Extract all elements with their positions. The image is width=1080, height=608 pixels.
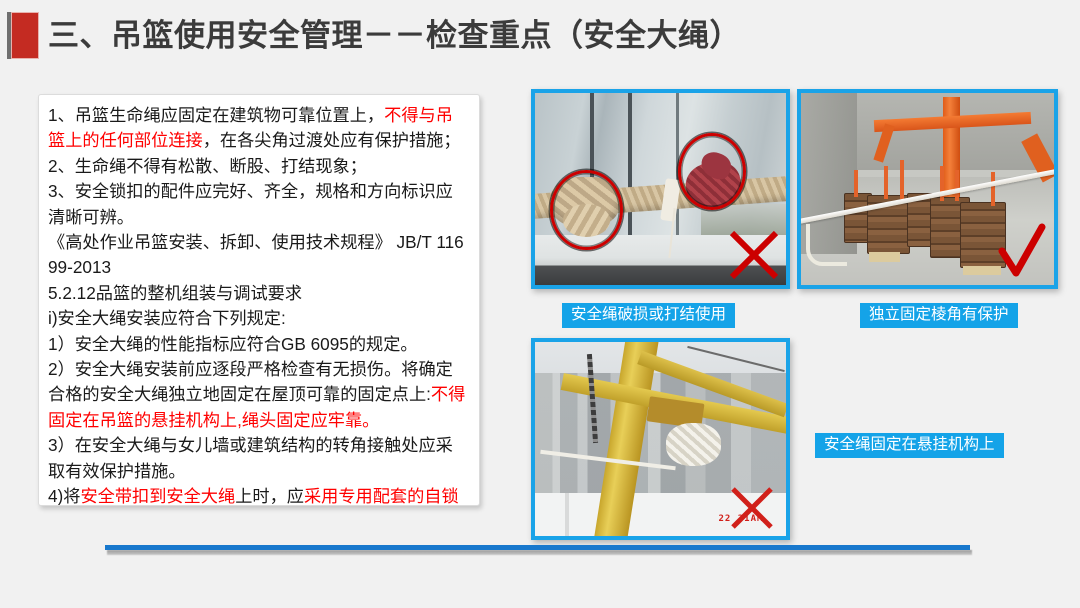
content-run: 3、安全锁扣的配件应完好、齐全，规格和方向标识应清晰可辨。	[48, 181, 453, 226]
content-run: 《高处作业吊篮安装、拆卸、使用技术规程》 JB/T 11699-2013	[48, 232, 464, 277]
red-ellipse-damage-annotation	[678, 133, 746, 210]
content-run: 安全带扣到安全大绳	[80, 486, 235, 506]
photo-caption-damaged-rope: 安全绳破损或打结使用	[562, 303, 735, 328]
red-ellipse-knot-annotation	[550, 170, 623, 251]
content-run: 4)将	[48, 486, 80, 506]
photo-timestamp: 22 21AM	[718, 514, 763, 524]
page-title: 三、吊篮使用安全管理－－检查重点（安全大绳）	[48, 12, 741, 60]
content-paragraph: 1、吊篮生命绳应固定在建筑物可靠位置上，不得与吊篮上的任何部位连接，在各尖角过渡…	[48, 103, 470, 154]
content-paragraph: 5.2.12品篮的整机组装与调试要求	[48, 281, 470, 306]
content-paragraph: i)安全大绳安装应符合下列规定:	[48, 306, 470, 331]
content-run: 5.2.12品篮的整机组装与调试要求	[48, 283, 302, 303]
content-run: 1、吊篮生命绳应固定在建筑物可靠位置上，	[48, 105, 384, 125]
content-run: 上时，应	[235, 486, 304, 506]
content-paragraph: 2）安全大绳安装前应逐段严格检查有无损伤。将确定合格的安全大绳独立地固定在屋顶可…	[48, 357, 470, 433]
photo-independent-anchor	[797, 89, 1058, 289]
photo-caption-rope-on-suspension: 安全绳固定在悬挂机构上	[815, 433, 1004, 458]
content-paragraph: 4)将安全带扣到安全大绳上时，应采用专用配套的自锁器或具有相同功能的单向自锁卡扣…	[48, 484, 470, 506]
content-text-panel: 1、吊篮生命绳应固定在建筑物可靠位置上，不得与吊篮上的任何部位连接，在各尖角过渡…	[38, 94, 480, 506]
content-paragraph: 2、生命绳不得有松散、断股、打结现象；	[48, 154, 470, 179]
photo-damaged-rope	[531, 89, 790, 289]
content-run: 3）在安全大绳与女儿墙或建筑结构的转角接触处应采取有效保护措施。	[48, 435, 453, 480]
slide-canvas: 三、吊篮使用安全管理－－检查重点（安全大绳） 1、吊篮生命绳应固定在建筑物可靠位…	[0, 0, 1080, 608]
bottom-rule-shadow	[107, 550, 972, 555]
photo-rope-on-suspension: 22 21AM	[531, 338, 790, 540]
content-body-text: 1、吊篮生命绳应固定在建筑物可靠位置上，不得与吊篮上的任何部位连接，在各尖角过渡…	[48, 103, 470, 506]
bottom-rule	[105, 545, 970, 550]
content-run: 2、生命绳不得有松散、断股、打结现象；	[48, 156, 367, 176]
content-paragraph: 《高处作业吊篮安装、拆卸、使用技术规程》 JB/T 11699-2013	[48, 230, 470, 281]
content-paragraph: 1）安全大绳的性能指标应符合GB 6095的规定。	[48, 332, 470, 357]
title-accent-block	[11, 12, 39, 59]
content-run: ，在各尖角过渡处应有保护措施；	[203, 130, 461, 150]
content-run: 1）安全大绳的性能指标应符合GB 6095的规定。	[48, 334, 418, 354]
content-run: i)安全大绳安装应符合下列规定:	[48, 308, 286, 328]
content-paragraph: 3、安全锁扣的配件应完好、齐全，规格和方向标识应清晰可辨。	[48, 179, 470, 230]
content-run: 2）安全大绳安装前应逐段严格检查有无损伤。将确定合格的安全大绳独立地固定在屋顶可…	[48, 359, 453, 404]
content-paragraph: 3）在安全大绳与女儿墙或建筑结构的转角接触处应采取有效保护措施。	[48, 433, 470, 484]
photo-caption-independent-anchor: 独立固定棱角有保护	[860, 303, 1018, 328]
